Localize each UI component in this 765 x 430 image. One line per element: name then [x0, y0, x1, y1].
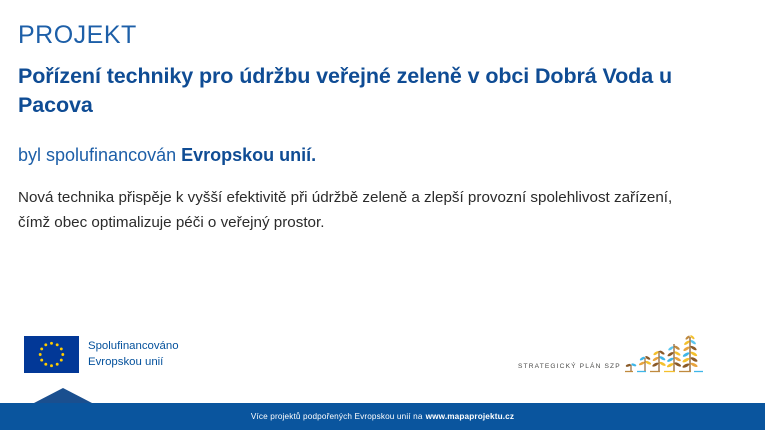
footer-url[interactable]: www.mapaprojektu.cz — [426, 412, 515, 421]
eu-logo-line2: Evropskou unií — [88, 355, 179, 370]
eu-flag-icon — [24, 336, 79, 373]
subtitle-bold-text: Evropskou unií. — [181, 145, 316, 165]
eu-cofunding-logo: Spolufinancováno Evropskou unií — [24, 336, 179, 373]
eu-logo-line1: Spolufinancováno — [88, 339, 179, 354]
body-paragraph: Nová technika přispěje k vyšší efektivit… — [18, 186, 683, 235]
szp-logo-label: STRATEGICKÝ PLÁN SZP — [518, 363, 621, 376]
szp-logo: STRATEGICKÝ PLÁN SZP — [518, 330, 708, 376]
szp-sprouts-icon — [624, 332, 704, 376]
footer-label: Více projektů podpořených Evropskou unií… — [251, 412, 423, 421]
footer-triangle-notch — [34, 388, 92, 403]
page-eyebrow: PROJEKT — [18, 22, 137, 50]
page-title: Pořízení techniky pro údržbu veřejné zel… — [18, 62, 708, 120]
eu-logo-text: Spolufinancováno Evropskou unií — [88, 339, 179, 369]
subtitle-regular-text: byl spolufinancován — [18, 145, 181, 165]
footer-content: Více projektů podpořených Evropskou unií… — [0, 403, 765, 430]
slide-canvas: PROJEKT Pořízení techniky pro údržbu veř… — [0, 0, 765, 430]
subtitle-line: byl spolufinancován Evropskou unií. — [18, 144, 316, 167]
